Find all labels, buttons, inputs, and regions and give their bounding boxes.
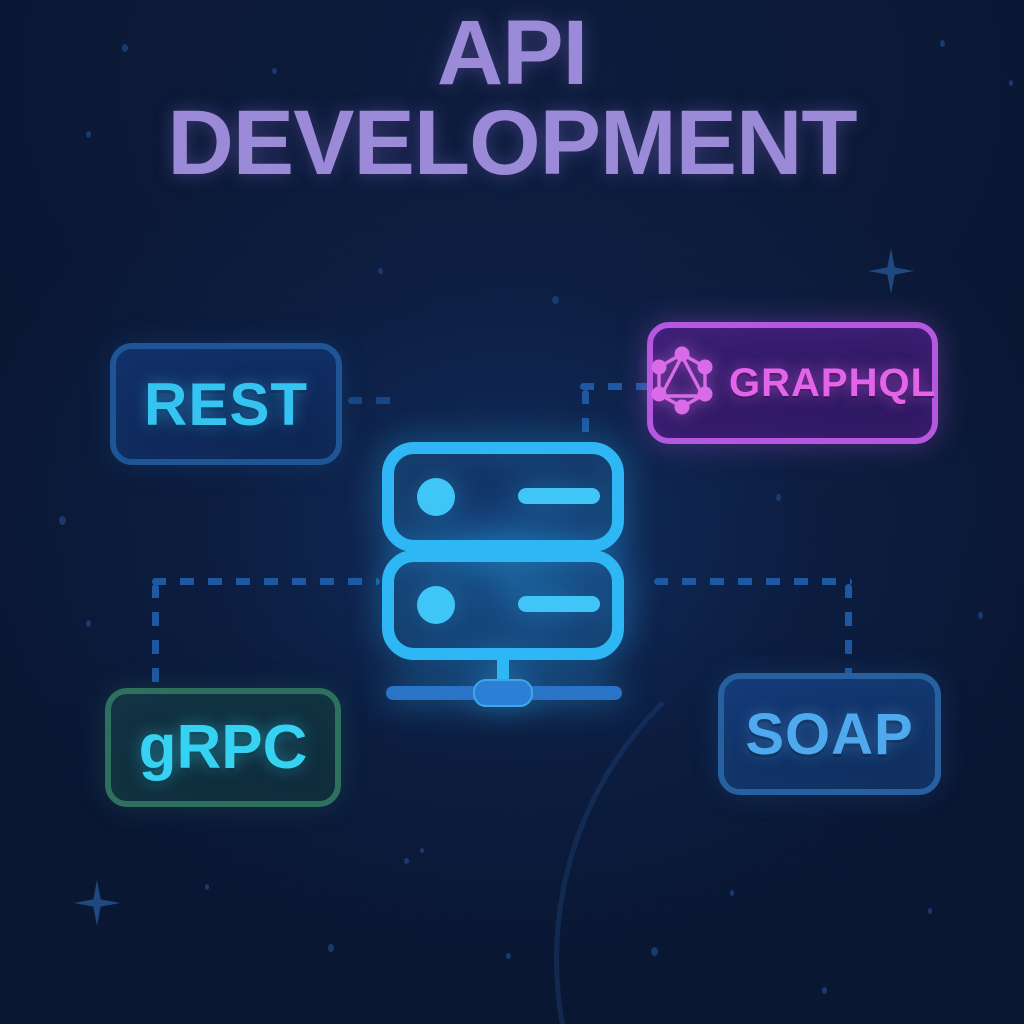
background-dot xyxy=(730,890,734,896)
background-dot xyxy=(86,620,91,627)
background-dot xyxy=(205,884,209,890)
background-dot xyxy=(420,848,424,853)
badge-soap[interactable]: SOAP xyxy=(718,673,941,795)
badge-graphql[interactable]: GRAPHQL xyxy=(647,322,938,444)
background-dot xyxy=(651,947,658,956)
badge-soap-label: SOAP xyxy=(745,701,913,768)
background-dot xyxy=(378,268,383,274)
background-dot xyxy=(59,516,66,525)
graphql-logo-icon xyxy=(649,346,715,421)
badge-graphql-label: GRAPHQL xyxy=(729,361,936,406)
badge-grpc[interactable]: gRPC xyxy=(105,688,341,807)
background-dot xyxy=(404,858,409,864)
badge-grpc-label: gRPC xyxy=(139,712,308,783)
connector-rest-stub xyxy=(348,397,398,404)
connector-graphql-horizontal xyxy=(580,383,652,390)
page-title: API DEVELOPMENT xyxy=(0,8,1024,188)
connector-soap-horizontal xyxy=(654,578,852,585)
background-dot xyxy=(928,908,932,914)
title-line-1: API xyxy=(0,8,1024,98)
background-dot xyxy=(776,494,781,501)
background-dot xyxy=(822,987,827,994)
title-line-2: DEVELOPMENT xyxy=(0,98,1024,188)
connector-grpc-vertical xyxy=(152,584,159,688)
badge-rest[interactable]: REST xyxy=(110,343,342,465)
background-dot xyxy=(506,953,511,959)
badge-rest-label: REST xyxy=(144,370,308,439)
background-dot xyxy=(328,944,334,952)
infographic-canvas: API DEVELOPMENT REST xyxy=(0,0,1024,1024)
connector-grpc-horizontal xyxy=(152,578,380,585)
sparkle-icon xyxy=(74,880,120,926)
server-icon[interactable] xyxy=(378,438,650,728)
background-dot xyxy=(552,296,559,304)
sparkle-icon xyxy=(868,248,914,294)
background-dot xyxy=(978,612,983,619)
